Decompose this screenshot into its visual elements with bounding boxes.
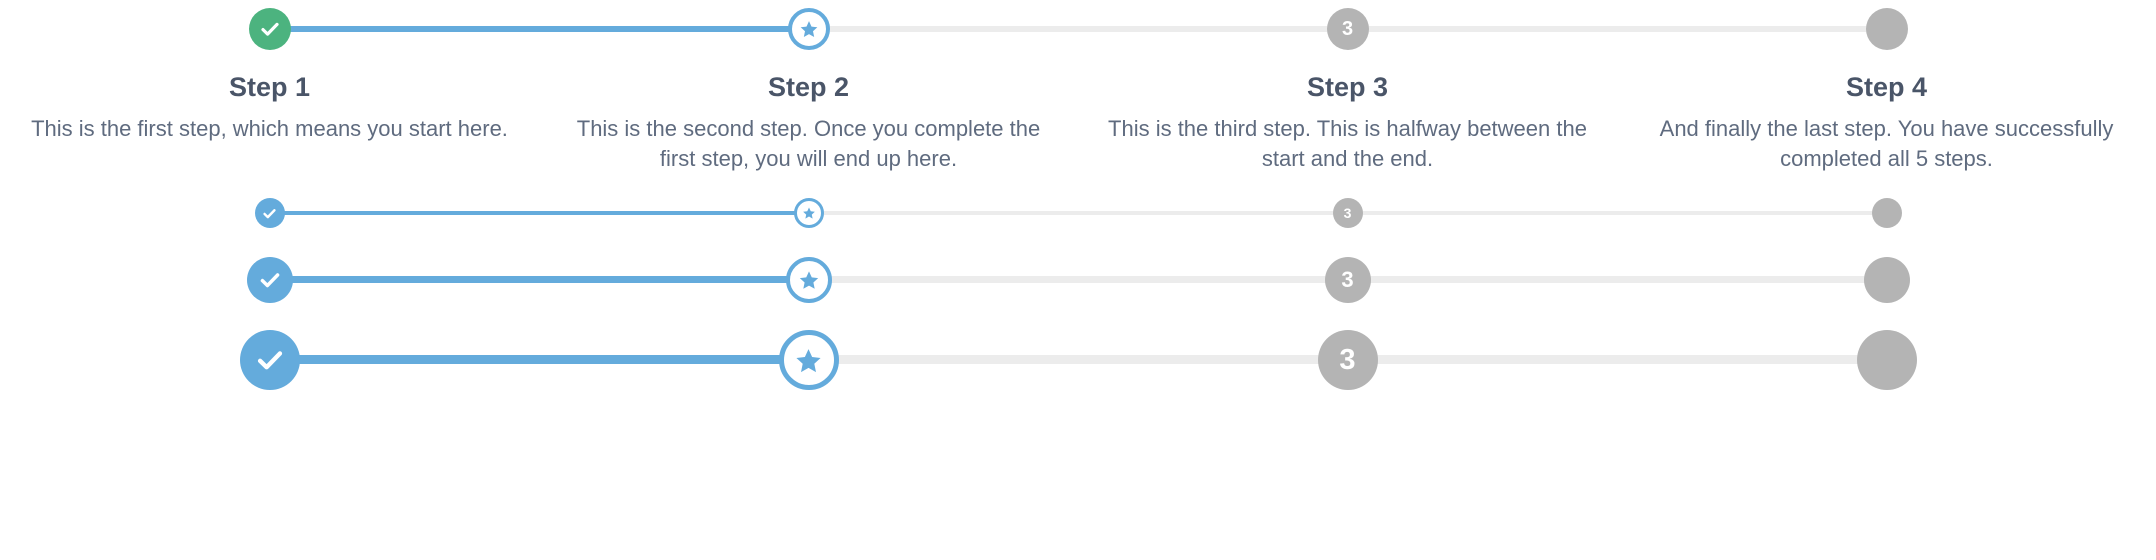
step-item-1[interactable]: Step 1 This is the first step, which mea… (0, 8, 539, 144)
step-title: Step 3 (1078, 72, 1617, 103)
step-item-1[interactable] (0, 257, 539, 303)
step-item-3[interactable]: 3 (1078, 330, 1617, 390)
step-description: This is the first step, which means you … (5, 114, 534, 144)
number-icon: 3 (1339, 346, 1355, 375)
stepper-labelled: Step 1 This is the first step, which mea… (0, 8, 2156, 175)
step-text-3: Step 3 This is the third step. This is h… (1078, 50, 1617, 175)
step-marker-number[interactable]: 3 (1333, 198, 1363, 228)
check-icon (258, 17, 282, 41)
step-item-4[interactable] (1617, 330, 2156, 390)
step-item-4[interactable]: Step 4 And finally the last step. You ha… (1617, 8, 2156, 175)
step-marker-dot[interactable] (1872, 198, 1902, 228)
step-marker-active[interactable] (788, 8, 830, 50)
step-title: Step 4 (1617, 72, 2156, 103)
stepper-large: 3 (0, 330, 2156, 390)
step-text-2: Step 2 This is the second step. Once you… (539, 50, 1078, 175)
step-item-3[interactable]: 3 Step 3 This is the third step. This is… (1078, 8, 1617, 175)
check-icon (261, 205, 278, 222)
step-marker-dot[interactable] (1866, 8, 1908, 50)
step-title: Step 2 (539, 72, 1078, 103)
stepper-medium: 3 (0, 257, 2156, 303)
step-item-4[interactable] (1617, 198, 2156, 228)
stepper-showcase: Step 1 This is the first step, which mea… (0, 0, 2156, 560)
step-marker-active[interactable] (794, 198, 824, 228)
step-item-1[interactable] (0, 330, 539, 390)
number-icon: 3 (1344, 206, 1352, 220)
step-marker-number[interactable]: 3 (1325, 257, 1371, 303)
step-marker-dot[interactable] (1857, 330, 1917, 390)
step-item-4[interactable] (1617, 257, 2156, 303)
step-item-2[interactable]: Step 2 This is the second step. Once you… (539, 8, 1078, 175)
check-icon (253, 343, 287, 377)
step-marker-complete[interactable] (247, 257, 293, 303)
step-description: This is the third step. This is halfway … (1078, 114, 1617, 175)
number-icon: 3 (1341, 269, 1353, 291)
step-title: Step 1 (5, 72, 534, 103)
star-icon (799, 19, 819, 39)
step-item-2[interactable] (539, 257, 1078, 303)
star-icon (802, 206, 816, 220)
step-description: And finally the last step. You have succ… (1617, 114, 2156, 175)
step-marker-complete[interactable] (255, 198, 285, 228)
step-description: This is the second step. Once you comple… (539, 114, 1078, 175)
step-marker-complete[interactable] (240, 330, 300, 390)
star-icon (798, 269, 820, 291)
star-icon (794, 346, 823, 375)
step-marker-active[interactable] (779, 330, 839, 390)
step-text-4: Step 4 And finally the last step. You ha… (1617, 50, 2156, 175)
step-text-1: Step 1 This is the first step, which mea… (5, 50, 534, 144)
step-item-2[interactable] (539, 198, 1078, 228)
step-item-2[interactable] (539, 330, 1078, 390)
step-marker-active[interactable] (786, 257, 832, 303)
step-item-1[interactable] (0, 198, 539, 228)
step-marker-complete[interactable] (249, 8, 291, 50)
step-item-3[interactable]: 3 (1078, 198, 1617, 228)
stepper-small: 3 (0, 198, 2156, 228)
number-icon: 3 (1342, 19, 1353, 39)
step-marker-number[interactable]: 3 (1318, 330, 1378, 390)
step-marker-dot[interactable] (1864, 257, 1910, 303)
step-marker-number[interactable]: 3 (1327, 8, 1369, 50)
step-item-3[interactable]: 3 (1078, 257, 1617, 303)
check-icon (257, 267, 283, 293)
